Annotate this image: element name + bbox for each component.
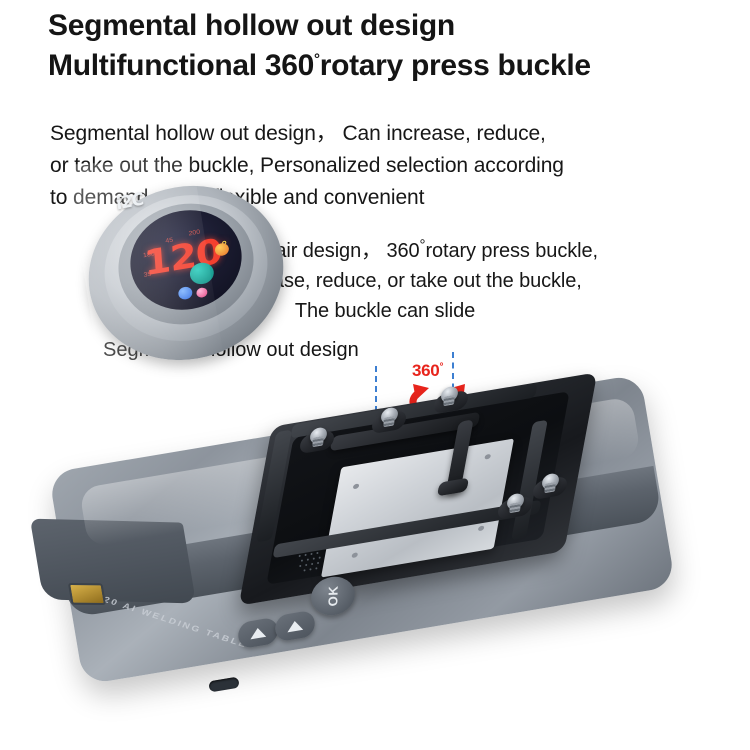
product-infographic: Segmental hollow out design Multifunctio… (0, 0, 750, 750)
ok-button-label: OK (325, 585, 340, 606)
plate-hole (484, 454, 491, 460)
para1-line-1: Segmental hollow out design， Can increas… (50, 118, 740, 150)
device-body-left-face (30, 519, 196, 604)
screen-icon-blue[interactable] (178, 286, 193, 301)
headline-line-1: Segmental hollow out design (48, 6, 738, 46)
plate-hole (351, 552, 358, 558)
para1-line-2: or take out the buckle, Personalized sel… (50, 150, 740, 182)
plate-hole (478, 525, 485, 531)
power-port[interactable] (68, 583, 106, 605)
page-title: Segmental hollow out design Multifunctio… (48, 6, 738, 86)
headline-line-2-pre: Multifunctional 360 (48, 49, 314, 82)
plate-hole (353, 483, 360, 489)
headline-line-2: Multifunctional 360°rotary press buckle (48, 46, 738, 86)
headline-line-2-post: rotary press buckle (320, 49, 591, 82)
screen-icon-pink[interactable] (196, 287, 208, 298)
triangle-up-icon (287, 620, 303, 633)
triangle-up-icon (250, 627, 266, 640)
screen-temperature-value: 120° (143, 230, 229, 284)
para2-line-1-post: rotary press buckle, (425, 240, 598, 262)
